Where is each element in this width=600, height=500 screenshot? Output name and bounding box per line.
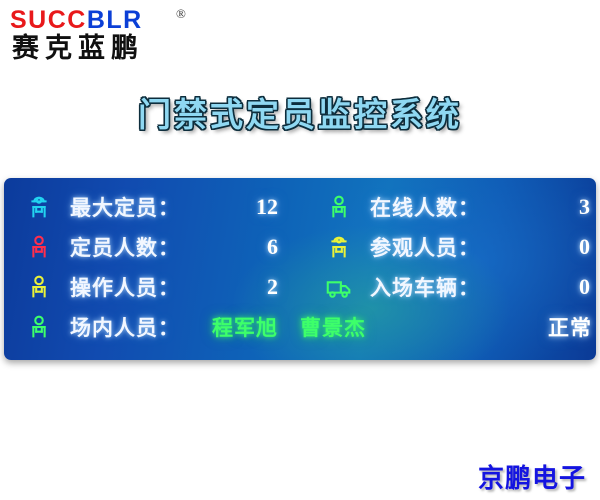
led-label-max-capacity: 最大定员： <box>70 192 180 222</box>
led-row-quota-count: 定员人数： 6 <box>24 230 316 264</box>
led-value-operators: 2 <box>267 274 278 300</box>
led-row-onsite-names: 程军旭 曹景杰 正常 <box>24 310 596 344</box>
led-display-content: 最大定员： 12 定员人数： 6 <box>18 188 582 350</box>
person-icon <box>324 192 354 222</box>
page-title: 门禁式定员监控系统 <box>0 88 600 136</box>
registered-trademark-icon: ® <box>176 6 186 22</box>
led-row-online-count: 在线人数： 3 <box>324 190 592 224</box>
led-label-online-count: 在线人数： <box>370 192 480 222</box>
person-icon <box>24 272 54 302</box>
led-label-visitors: 参观人员： <box>370 232 480 262</box>
led-label-vehicles: 入场车辆： <box>370 272 480 302</box>
led-row-vehicles: 入场车辆： 0 <box>324 270 592 304</box>
person-hardhat-icon <box>24 192 54 222</box>
led-value-visitors: 0 <box>579 234 590 260</box>
person-hardhat-icon <box>324 232 354 262</box>
led-value-max-capacity: 12 <box>256 194 278 220</box>
logo-latin-blue: BLR <box>87 6 143 34</box>
truck-icon <box>324 272 354 302</box>
logo-latin-wordmark: SUCCBLR <box>10 8 143 33</box>
led-row-visitors: 参观人员： 0 <box>324 230 592 264</box>
person-icon <box>24 232 54 262</box>
footer-company-name: 京鹏电子 <box>478 458 586 495</box>
logo-latin-red: SUCC <box>10 6 87 34</box>
status-badge: 正常 <box>548 312 592 342</box>
led-value-vehicles: 0 <box>579 274 590 300</box>
company-logo: SUCCBLR ® 赛克蓝鹏 <box>8 6 238 72</box>
led-display-panel: 最大定员： 12 定员人数： 6 <box>4 178 596 360</box>
led-value-quota-count: 6 <box>267 234 278 260</box>
led-label-operators: 操作人员： <box>70 272 180 302</box>
led-row-max-capacity: 最大定员： 12 <box>24 190 316 224</box>
led-row-operators: 操作人员： 2 <box>24 270 316 304</box>
led-value-online-count: 3 <box>579 194 590 220</box>
led-label-quota-count: 定员人数： <box>70 232 180 262</box>
led-value-onsite-names: 程军旭 曹景杰 <box>212 312 366 342</box>
logo-chinese-wordmark: 赛克蓝鹏 <box>12 35 144 62</box>
